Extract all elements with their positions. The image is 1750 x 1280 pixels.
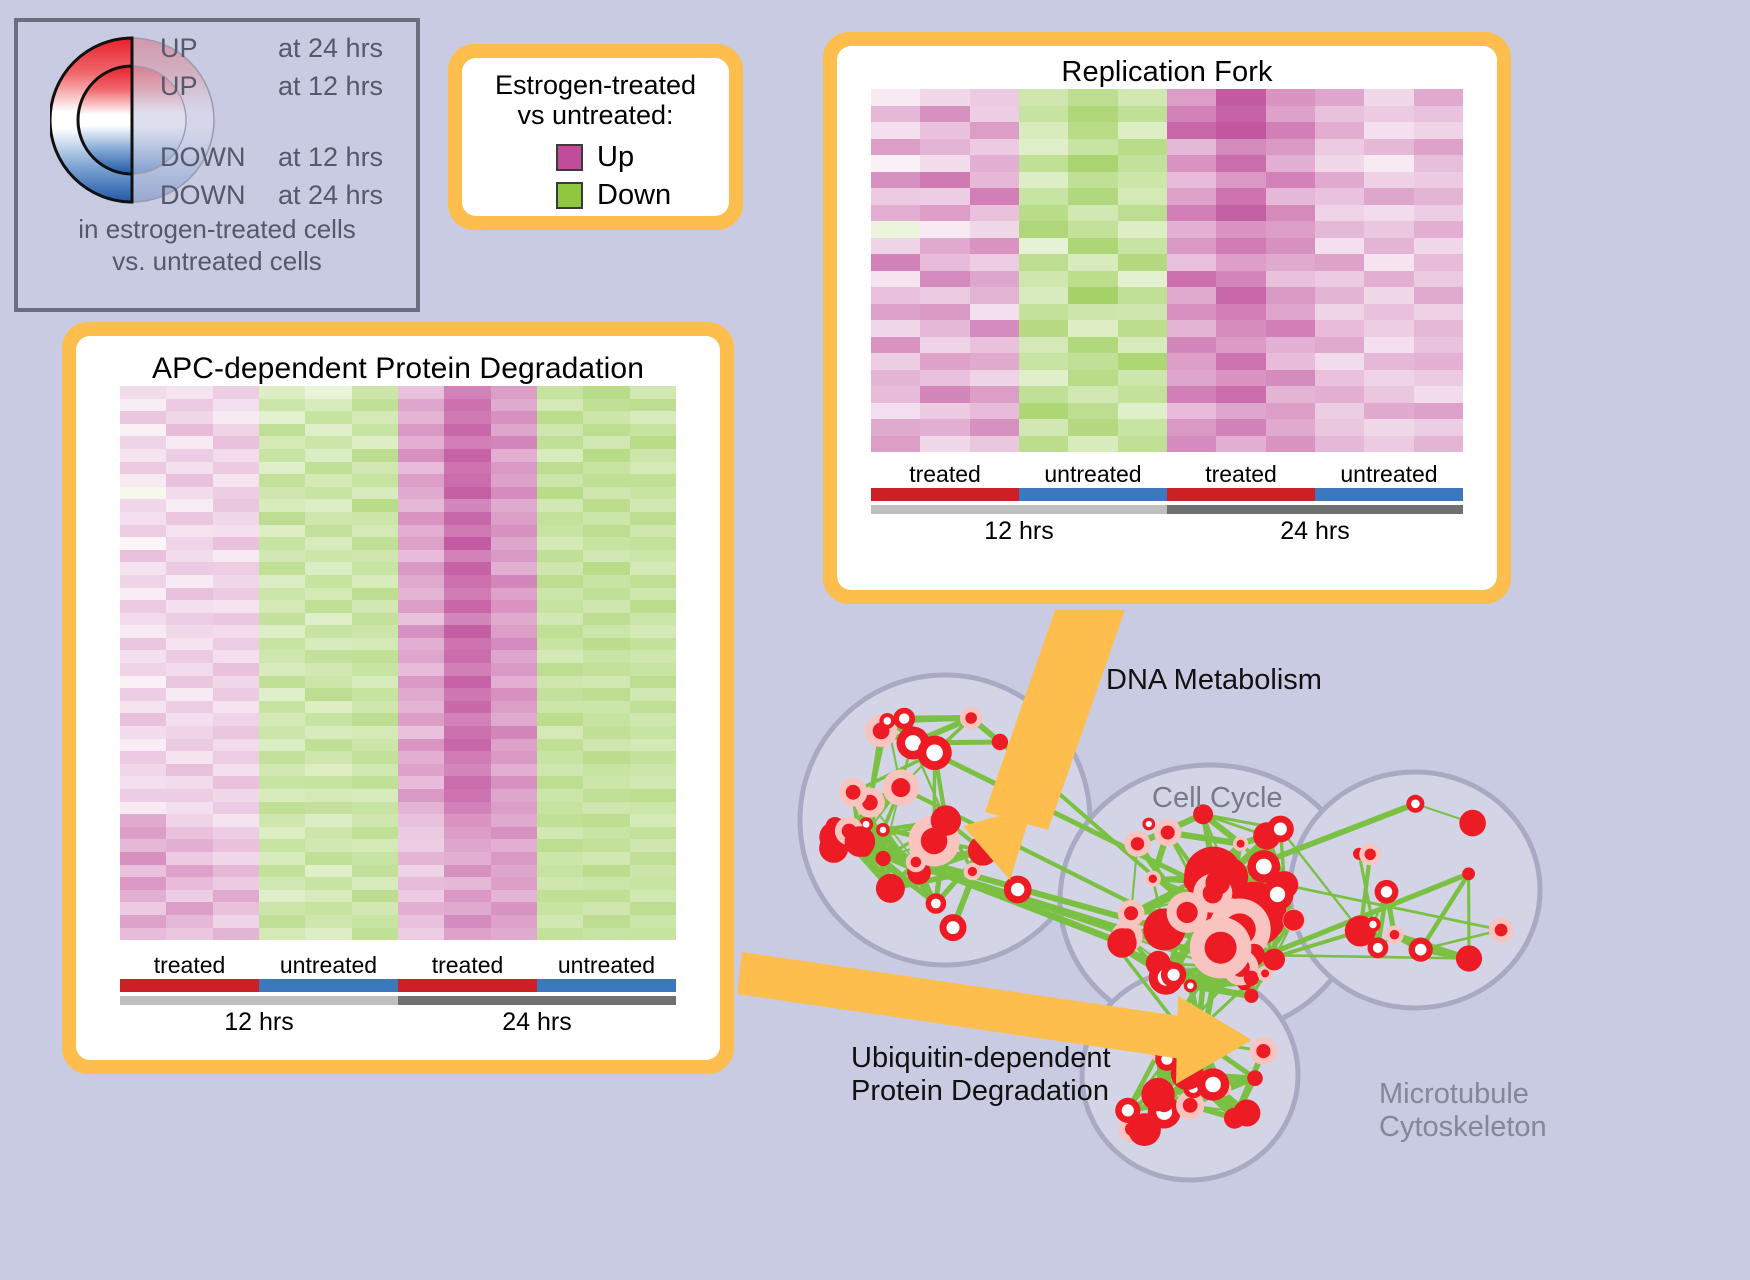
replication-fork-time-bar — [871, 505, 1463, 514]
heatmap-cell — [213, 386, 259, 399]
network-node[interactable] — [931, 805, 961, 835]
network-node[interactable] — [1365, 917, 1380, 932]
heatmap-cell — [583, 625, 629, 638]
heatmap-cell — [444, 764, 490, 777]
heatmap-cell — [630, 928, 676, 941]
network-node[interactable] — [893, 708, 915, 730]
key-row-down-12: DOWN at 12 hrs — [160, 139, 420, 177]
network-node[interactable] — [845, 826, 876, 857]
heatmap-cell — [491, 928, 537, 941]
heatmap-cell — [1167, 172, 1216, 189]
heatmap-cell — [1364, 188, 1413, 205]
heatmap-cell — [630, 663, 676, 676]
time-label: 12 hrs — [871, 517, 1167, 546]
heatmap-cell — [537, 915, 583, 928]
network-node[interactable] — [1261, 878, 1293, 910]
expression-key-rows: UP at 24 hrs UP at 12 hrs DOWN at 12 hrs… — [160, 30, 420, 215]
heatmap-cell — [444, 613, 490, 626]
network-node[interactable] — [876, 851, 891, 866]
heatmap-cell — [1167, 89, 1216, 106]
heatmap-cell — [1019, 221, 1068, 238]
heatmap-cell — [1118, 122, 1167, 139]
heatmap-cell — [1364, 155, 1413, 172]
heatmap-cell — [259, 751, 305, 764]
heatmap-cell — [398, 663, 444, 676]
heatmap-cell — [1216, 254, 1265, 271]
heatmap-cell — [213, 424, 259, 437]
time-color-bar — [120, 996, 398, 1005]
heatmap-cell — [537, 512, 583, 525]
heatmap-cell — [120, 764, 166, 777]
heatmap-cell — [259, 487, 305, 500]
heatmap-cell — [352, 726, 398, 739]
heatmap-cell — [120, 802, 166, 815]
heatmap-cell — [920, 271, 969, 288]
node-core — [965, 712, 977, 724]
heatmap-cell — [352, 915, 398, 928]
heatmap-cell — [970, 122, 1019, 139]
heatmap-cell — [398, 802, 444, 815]
heatmap-cell — [398, 726, 444, 739]
heatmap-cell — [166, 499, 212, 512]
heatmap-cell — [1068, 188, 1117, 205]
network-node[interactable] — [1250, 1037, 1277, 1064]
heatmap-cell — [352, 436, 398, 449]
node-core — [1256, 1044, 1270, 1058]
heatmap-cell — [398, 625, 444, 638]
heatmap-cell — [444, 638, 490, 651]
heatmap-cell — [213, 449, 259, 462]
heatmap-cell — [1216, 139, 1265, 156]
heatmap-cell — [1118, 337, 1167, 354]
network-node[interactable] — [1359, 843, 1381, 865]
network-node[interactable] — [876, 874, 905, 903]
network-node[interactable] — [917, 736, 951, 770]
heatmap-cell — [491, 713, 537, 726]
network-node[interactable] — [1263, 949, 1285, 971]
network-node[interactable] — [1125, 831, 1151, 857]
heatmap-cell — [1118, 139, 1167, 156]
heatmap-cell — [1068, 370, 1117, 387]
network-node[interactable] — [960, 707, 982, 729]
heatmap-cell — [491, 436, 537, 449]
heatmap-cell — [444, 865, 490, 878]
heatmap-cell — [537, 487, 583, 500]
heatmap-cell — [1414, 419, 1463, 436]
node-core — [1011, 883, 1024, 896]
heatmap-cell — [352, 688, 398, 701]
heatmap-cell — [1364, 254, 1413, 271]
heatmap-cell — [398, 902, 444, 915]
expression-key-panel: UP at 24 hrs UP at 12 hrs DOWN at 12 hrs… — [14, 18, 420, 312]
node-core — [1270, 887, 1285, 902]
heatmap-cell — [305, 701, 351, 714]
heatmap-cell — [305, 424, 351, 437]
heatmap-cell — [166, 713, 212, 726]
heatmap-cell — [398, 638, 444, 651]
heatmap-cell — [1216, 122, 1265, 139]
network-node[interactable] — [1197, 1068, 1229, 1100]
heatmap-cell — [630, 386, 676, 399]
network-node[interactable] — [964, 863, 982, 881]
heatmap-cell — [398, 764, 444, 777]
heatmap-cell — [120, 650, 166, 663]
heatmap-cell — [1216, 205, 1265, 222]
network-node[interactable] — [906, 852, 926, 872]
heatmap-cell — [583, 525, 629, 538]
heatmap-cell — [120, 588, 166, 601]
heatmap-cell — [213, 588, 259, 601]
network-node[interactable] — [1406, 795, 1424, 813]
heatmap-cell — [305, 499, 351, 512]
heatmap-cell — [1118, 205, 1167, 222]
network-node[interactable] — [1247, 1070, 1263, 1086]
heatmap-cell — [583, 411, 629, 424]
figure-canvas: UP at 24 hrs UP at 12 hrs DOWN at 12 hrs… — [0, 0, 1750, 1279]
key-footer-line-2: vs. untreated cells — [18, 246, 416, 278]
key-row-up-12: UP at 12 hrs — [160, 68, 420, 106]
heatmap-cell — [630, 852, 676, 865]
heatmap-cell — [537, 474, 583, 487]
heatmap-cell — [920, 353, 969, 370]
condition-color-bar — [120, 979, 259, 992]
heatmap-cell — [537, 839, 583, 852]
heatmap-cell — [398, 449, 444, 462]
heatmap-cell — [1315, 238, 1364, 255]
heatmap-cell — [871, 386, 920, 403]
network-node[interactable] — [1368, 938, 1389, 959]
key-row-down-24: DOWN at 24 hrs — [160, 177, 420, 215]
heatmap-cell — [1414, 122, 1463, 139]
heatmap-cell — [871, 353, 920, 370]
heatmap-cell — [630, 890, 676, 903]
heatmap-cell — [213, 638, 259, 651]
heatmap-cell — [305, 739, 351, 752]
network-node[interactable] — [1107, 928, 1136, 957]
heatmap-cell — [491, 764, 537, 777]
heatmap-cell — [398, 928, 444, 941]
network-node[interactable] — [1244, 989, 1258, 1003]
heatmap-cell — [1068, 419, 1117, 436]
heatmap-cell — [1315, 386, 1364, 403]
heatmap-cell — [1167, 403, 1216, 420]
heatmap-cell — [583, 751, 629, 764]
node-core — [1177, 902, 1198, 923]
heatmap-cell — [1315, 89, 1364, 106]
heatmap-cell — [120, 839, 166, 852]
node-core — [1187, 983, 1193, 989]
heatmap-cell — [1315, 122, 1364, 139]
cluster-label-cell-cycle: Cell Cycle — [1152, 782, 1283, 815]
network-node[interactable] — [1267, 816, 1294, 843]
condition-label: untreated — [1315, 461, 1463, 488]
heatmap-cell — [120, 676, 166, 689]
heatmap-cell — [1266, 221, 1315, 238]
heatmap-cell — [583, 575, 629, 588]
heatmap-cell — [1266, 89, 1315, 106]
node-core — [1124, 906, 1138, 920]
heatmap-cell — [920, 403, 969, 420]
heatmap-cell — [871, 139, 920, 156]
heatmap-cell — [166, 650, 212, 663]
network-node[interactable] — [1004, 876, 1032, 904]
heatmap-cell — [444, 600, 490, 613]
heatmap-cell — [120, 474, 166, 487]
heatmap-cell — [1118, 403, 1167, 420]
network-node[interactable] — [876, 823, 890, 837]
heatmap-cell — [120, 751, 166, 764]
heatmap-cell — [305, 776, 351, 789]
node-core — [1415, 944, 1427, 956]
heatmap-cell — [537, 751, 583, 764]
heatmap-cell — [1019, 122, 1068, 139]
network-node[interactable] — [1375, 880, 1399, 904]
network-node[interactable] — [1185, 1016, 1217, 1048]
network-node[interactable] — [1459, 810, 1486, 837]
heatmap-cell — [352, 789, 398, 802]
heatmap-cell — [491, 600, 537, 613]
heatmap-cell — [970, 221, 1019, 238]
heatmap-cell — [213, 915, 259, 928]
heatmap-cell — [166, 890, 212, 903]
heatmap-cell — [1068, 386, 1117, 403]
heatmap-cell — [166, 814, 212, 827]
key-time: at 12 hrs — [278, 144, 383, 172]
heatmap-cell — [352, 550, 398, 563]
heatmap-cell — [1118, 172, 1167, 189]
heatmap-cell — [583, 499, 629, 512]
heatmap-cell — [970, 353, 1019, 370]
heatmap-cell — [305, 726, 351, 739]
heatmap-cell — [583, 650, 629, 663]
network-node[interactable] — [940, 914, 967, 941]
heatmap-cell — [537, 726, 583, 739]
network-node[interactable] — [1154, 819, 1181, 846]
heatmap-cell — [1118, 436, 1167, 453]
network-node[interactable] — [1190, 917, 1252, 979]
heatmap-cell — [444, 386, 490, 399]
heatmap-cell — [259, 713, 305, 726]
heatmap-cell — [259, 537, 305, 550]
heatmap-cell — [352, 588, 398, 601]
heatmap-cell — [583, 600, 629, 613]
heatmap-cell — [305, 865, 351, 878]
network-node[interactable] — [926, 893, 947, 914]
heatmap-cell — [352, 764, 398, 777]
heatmap-cell — [871, 188, 920, 205]
network-node[interactable] — [1155, 1095, 1172, 1112]
network-node[interactable] — [1247, 850, 1280, 883]
network-node[interactable] — [883, 769, 919, 805]
heatmap-cell — [920, 320, 969, 337]
heatmap-cell — [166, 449, 212, 462]
heatmap-cell — [259, 789, 305, 802]
heatmap-cell — [583, 386, 629, 399]
heatmap-cell — [1216, 370, 1265, 387]
heatmap-cell — [1364, 238, 1413, 255]
heatmap-cell — [305, 411, 351, 424]
heatmap-cell — [1068, 403, 1117, 420]
heatmap-cell — [398, 575, 444, 588]
network-node[interactable] — [1161, 962, 1186, 987]
heatmap-cell — [352, 739, 398, 752]
heatmap-cell — [970, 106, 1019, 123]
heatmap-cell — [166, 638, 212, 651]
heatmap-cell — [630, 764, 676, 777]
time-label: 12 hrs — [120, 1008, 398, 1037]
heatmap-cell — [352, 512, 398, 525]
heatmap-cell — [970, 139, 1019, 156]
heatmap-cell — [259, 386, 305, 399]
heatmap-cell — [1167, 205, 1216, 222]
heatmap-cell — [444, 399, 490, 412]
network-node[interactable] — [1283, 910, 1304, 931]
heatmap-cell — [871, 419, 920, 436]
heatmap-cell — [970, 271, 1019, 288]
heatmap-cell — [213, 928, 259, 941]
network-node[interactable] — [1128, 1113, 1161, 1146]
heatmap-cell — [352, 751, 398, 764]
network-node[interactable] — [992, 734, 1008, 750]
heatmap-cell — [1364, 205, 1413, 222]
network-node[interactable] — [968, 835, 998, 865]
heatmap-cell — [583, 449, 629, 462]
heatmap-cell — [871, 287, 920, 304]
time-color-bar — [398, 996, 676, 1005]
node-core — [1183, 1098, 1198, 1113]
network-node[interactable] — [1145, 871, 1161, 887]
node-core — [1168, 969, 1180, 981]
heatmap-cell — [120, 713, 166, 726]
legend-label-down: Down — [597, 179, 671, 212]
heatmap-cell — [1167, 337, 1216, 354]
heatmap-cell — [166, 588, 212, 601]
heatmap-cell — [305, 638, 351, 651]
heatmap-cell — [444, 512, 490, 525]
heatmap-cell — [120, 499, 166, 512]
heatmap-cell — [259, 550, 305, 563]
pathway-network — [790, 620, 1750, 1280]
heatmap-cell — [305, 802, 351, 815]
heatmap-cell — [259, 411, 305, 424]
heatmap-cell — [398, 613, 444, 626]
heatmap-cell — [352, 713, 398, 726]
heatmap-cell — [352, 890, 398, 903]
heatmap-cell — [444, 902, 490, 915]
heatmap-cell — [213, 512, 259, 525]
heatmap-cell — [537, 575, 583, 588]
heatmap-cell — [166, 399, 212, 412]
legend-label-up: Up — [597, 141, 634, 174]
heatmap-cell — [583, 865, 629, 878]
network-node[interactable] — [1184, 979, 1197, 992]
heatmap-cell — [213, 474, 259, 487]
network-node[interactable] — [1489, 918, 1514, 943]
heatmap-cell — [583, 562, 629, 575]
heatmap-cell — [1364, 287, 1413, 304]
heatmap-cell — [1266, 436, 1315, 453]
heatmap-cell — [630, 499, 676, 512]
heatmap-cell — [398, 852, 444, 865]
heatmap-cell — [1019, 304, 1068, 321]
heatmap-cell — [305, 890, 351, 903]
heatmap-cell — [1414, 238, 1463, 255]
heatmap-cell — [630, 575, 676, 588]
network-node[interactable] — [1244, 971, 1259, 986]
heatmap-cell — [630, 776, 676, 789]
node-core — [1411, 800, 1420, 809]
heatmap-cell — [305, 399, 351, 412]
heatmap-cell — [352, 625, 398, 638]
network-node[interactable] — [1233, 836, 1248, 851]
heatmap-cell — [1216, 172, 1265, 189]
heatmap-cell — [305, 877, 351, 890]
heatmap-cell — [305, 663, 351, 676]
network-node[interactable] — [879, 713, 895, 729]
heatmap-cell — [537, 789, 583, 802]
heatmap-cell — [1068, 353, 1117, 370]
network-node[interactable] — [1142, 818, 1155, 831]
heatmap-cell — [166, 789, 212, 802]
key-time: at 24 hrs — [278, 35, 383, 63]
node-core — [880, 827, 887, 834]
heatmap-cell — [305, 575, 351, 588]
heatmap-cell — [352, 487, 398, 500]
heatmap-cell — [1019, 436, 1068, 453]
network-node[interactable] — [1385, 926, 1403, 944]
heatmap-cell — [398, 411, 444, 424]
heatmap-cell — [920, 139, 969, 156]
heatmap-cell — [1068, 155, 1117, 172]
heatmap-cell — [444, 499, 490, 512]
network-node[interactable] — [839, 778, 868, 807]
heatmap-cell — [352, 462, 398, 475]
heatmap-cell — [305, 789, 351, 802]
heatmap-cell — [120, 525, 166, 538]
node-core — [1161, 1054, 1172, 1065]
heatmap-cell — [166, 877, 212, 890]
network-node[interactable] — [1206, 870, 1231, 895]
heatmap-cell — [305, 487, 351, 500]
heatmap-cell — [1266, 386, 1315, 403]
network-node[interactable] — [1456, 945, 1482, 971]
heatmap-cell — [120, 865, 166, 878]
heatmap-cell — [398, 499, 444, 512]
heatmap-cell — [398, 865, 444, 878]
network-node[interactable] — [1462, 867, 1475, 880]
heatmap-cell — [398, 462, 444, 475]
node-core — [1237, 840, 1245, 848]
heatmap-cell — [259, 701, 305, 714]
heatmap-cell — [1266, 155, 1315, 172]
network-node[interactable] — [1409, 938, 1433, 962]
heatmap-cell — [1216, 271, 1265, 288]
heatmap-cell — [1315, 155, 1364, 172]
heatmap-cell — [305, 902, 351, 915]
heatmap-cell — [120, 575, 166, 588]
heatmap-cell — [1266, 320, 1315, 337]
replication-fork-panel: Replication Fork treateduntreatedtreated… — [823, 32, 1511, 604]
heatmap-cell — [1216, 419, 1265, 436]
node-core — [1131, 837, 1144, 850]
heatmap-cell — [444, 676, 490, 689]
heatmap-cell — [1167, 254, 1216, 271]
heatmap-cell — [630, 399, 676, 412]
replication-fork-time-labels: 12 hrs24 hrs — [871, 517, 1463, 546]
heatmap-cell — [1118, 353, 1167, 370]
network-node[interactable] — [1233, 1100, 1260, 1127]
heatmap-cell — [871, 238, 920, 255]
